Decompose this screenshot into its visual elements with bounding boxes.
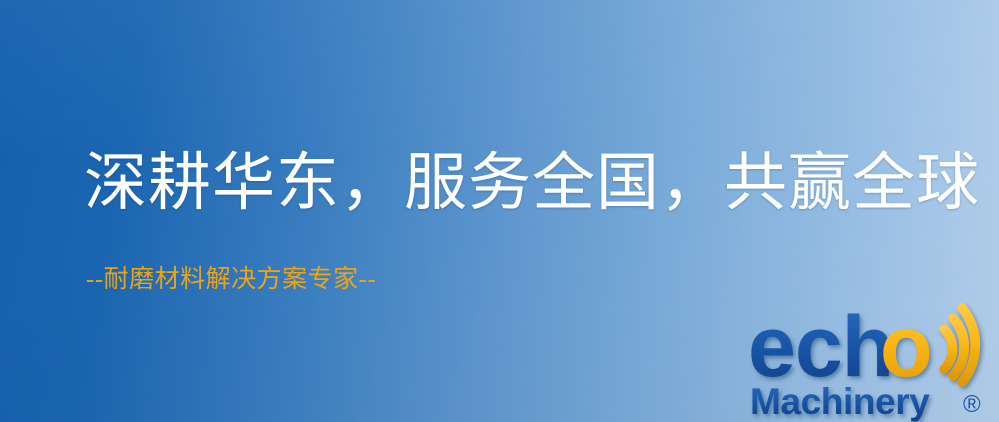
logo-tagline: Machinery xyxy=(750,381,930,422)
banner-headline: 深耕华东，服务全国，共赢全球 xyxy=(84,152,980,215)
signal-arcs-icon xyxy=(944,308,975,382)
registered-trademark-icon: ® xyxy=(963,391,981,418)
banner-subtitle: --耐磨材料解决方案专家-- xyxy=(86,266,376,294)
hero-banner: 深耕华东，服务全国，共赢全球 --耐磨材料解决方案专家-- xyxy=(0,0,999,422)
echo-machinery-logo[interactable]: ech o Machinery ® xyxy=(748,292,999,422)
